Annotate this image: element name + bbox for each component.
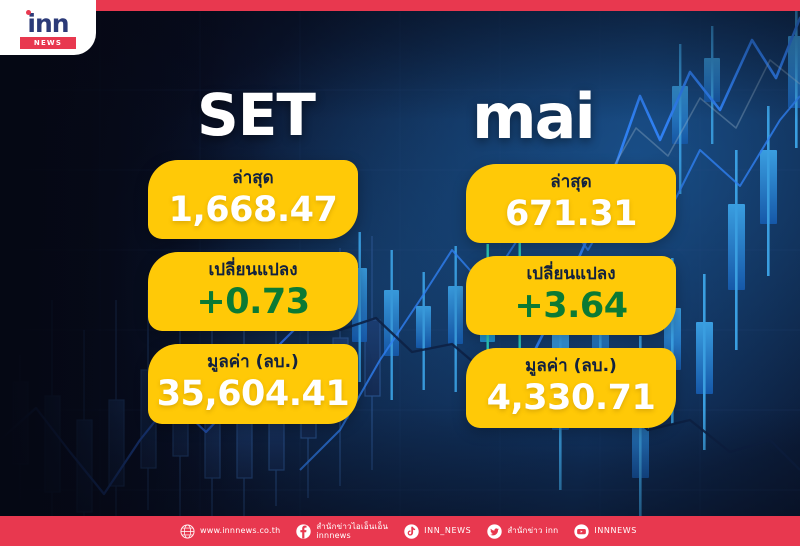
card-set-last: ล่าสุด 1,668.47 bbox=[148, 160, 358, 239]
footer-label-line1: สำนักข่าวไอเอ็นเอ็น bbox=[316, 522, 388, 531]
top-accent-bar bbox=[0, 0, 800, 11]
index-column-set: SET ล่าสุด 1,668.47 เปลี่ยนแปลง +0.73 มู… bbox=[148, 86, 358, 424]
footer-label-line2: innnews bbox=[316, 531, 388, 540]
footer-label: สำนักข่าว inn bbox=[507, 526, 558, 535]
card-label: เปลี่ยนแปลง bbox=[154, 259, 352, 282]
background-vignette bbox=[0, 0, 800, 546]
footer-item-youtube[interactable]: INNNEWS bbox=[574, 524, 637, 539]
footer-social-bar: www.innnews.co.th สำนักข่าวไอเอ็นเอ็น in… bbox=[0, 516, 800, 546]
card-label: ล่าสุด bbox=[154, 167, 352, 190]
card-value: 1,668.47 bbox=[154, 190, 352, 230]
index-title-mai: mai bbox=[466, 86, 676, 148]
card-value: +0.73 bbox=[154, 282, 352, 322]
card-mai-value: มูลค่า (ลบ.) 4,330.71 bbox=[466, 348, 676, 427]
card-label: มูลค่า (ลบ.) bbox=[154, 351, 352, 374]
logo-wordmark: inn bbox=[17, 12, 79, 36]
twitter-icon bbox=[487, 524, 502, 539]
footer-item-website[interactable]: www.innnews.co.th bbox=[180, 524, 280, 539]
inn-news-logo: inn NEWS bbox=[0, 0, 96, 55]
graphic-canvas: inn NEWS SET ล่าสุด 1,668.47 เปลี่ยนแปลง… bbox=[0, 0, 800, 546]
card-label: มูลค่า (ลบ.) bbox=[472, 355, 670, 378]
globe-icon bbox=[180, 524, 195, 539]
card-value: 4,330.71 bbox=[472, 378, 670, 418]
index-column-mai: mai ล่าสุด 671.31 เปลี่ยนแปลง +3.64 มูลค… bbox=[466, 86, 676, 428]
card-set-change: เปลี่ยนแปลง +0.73 bbox=[148, 252, 358, 331]
footer-item-tiktok[interactable]: INN_NEWS bbox=[404, 524, 471, 539]
youtube-icon bbox=[574, 524, 589, 539]
card-label: ล่าสุด bbox=[472, 171, 670, 194]
logo-news-badge: NEWS bbox=[20, 37, 76, 49]
footer-item-facebook[interactable]: สำนักข่าวไอเอ็นเอ็น innnews bbox=[296, 522, 388, 540]
footer-item-twitter[interactable]: สำนักข่าว inn bbox=[487, 524, 558, 539]
card-mai-change: เปลี่ยนแปลง +3.64 bbox=[466, 256, 676, 335]
footer-label: สำนักข่าวไอเอ็นเอ็น innnews bbox=[316, 522, 388, 540]
card-value: +3.64 bbox=[472, 286, 670, 326]
card-label: เปลี่ยนแปลง bbox=[472, 263, 670, 286]
footer-label: INNNEWS bbox=[594, 526, 637, 535]
tiktok-icon bbox=[404, 524, 419, 539]
card-value: 35,604.41 bbox=[154, 374, 352, 414]
card-value: 671.31 bbox=[472, 194, 670, 234]
card-set-value: มูลค่า (ลบ.) 35,604.41 bbox=[148, 344, 358, 423]
facebook-icon bbox=[296, 524, 311, 539]
logo-dot-icon bbox=[26, 10, 31, 15]
background-artwork bbox=[0, 0, 800, 546]
footer-label: INN_NEWS bbox=[424, 526, 471, 535]
footer-label: www.innnews.co.th bbox=[200, 526, 280, 535]
index-title-set: SET bbox=[148, 86, 358, 144]
card-mai-last: ล่าสุด 671.31 bbox=[466, 164, 676, 243]
